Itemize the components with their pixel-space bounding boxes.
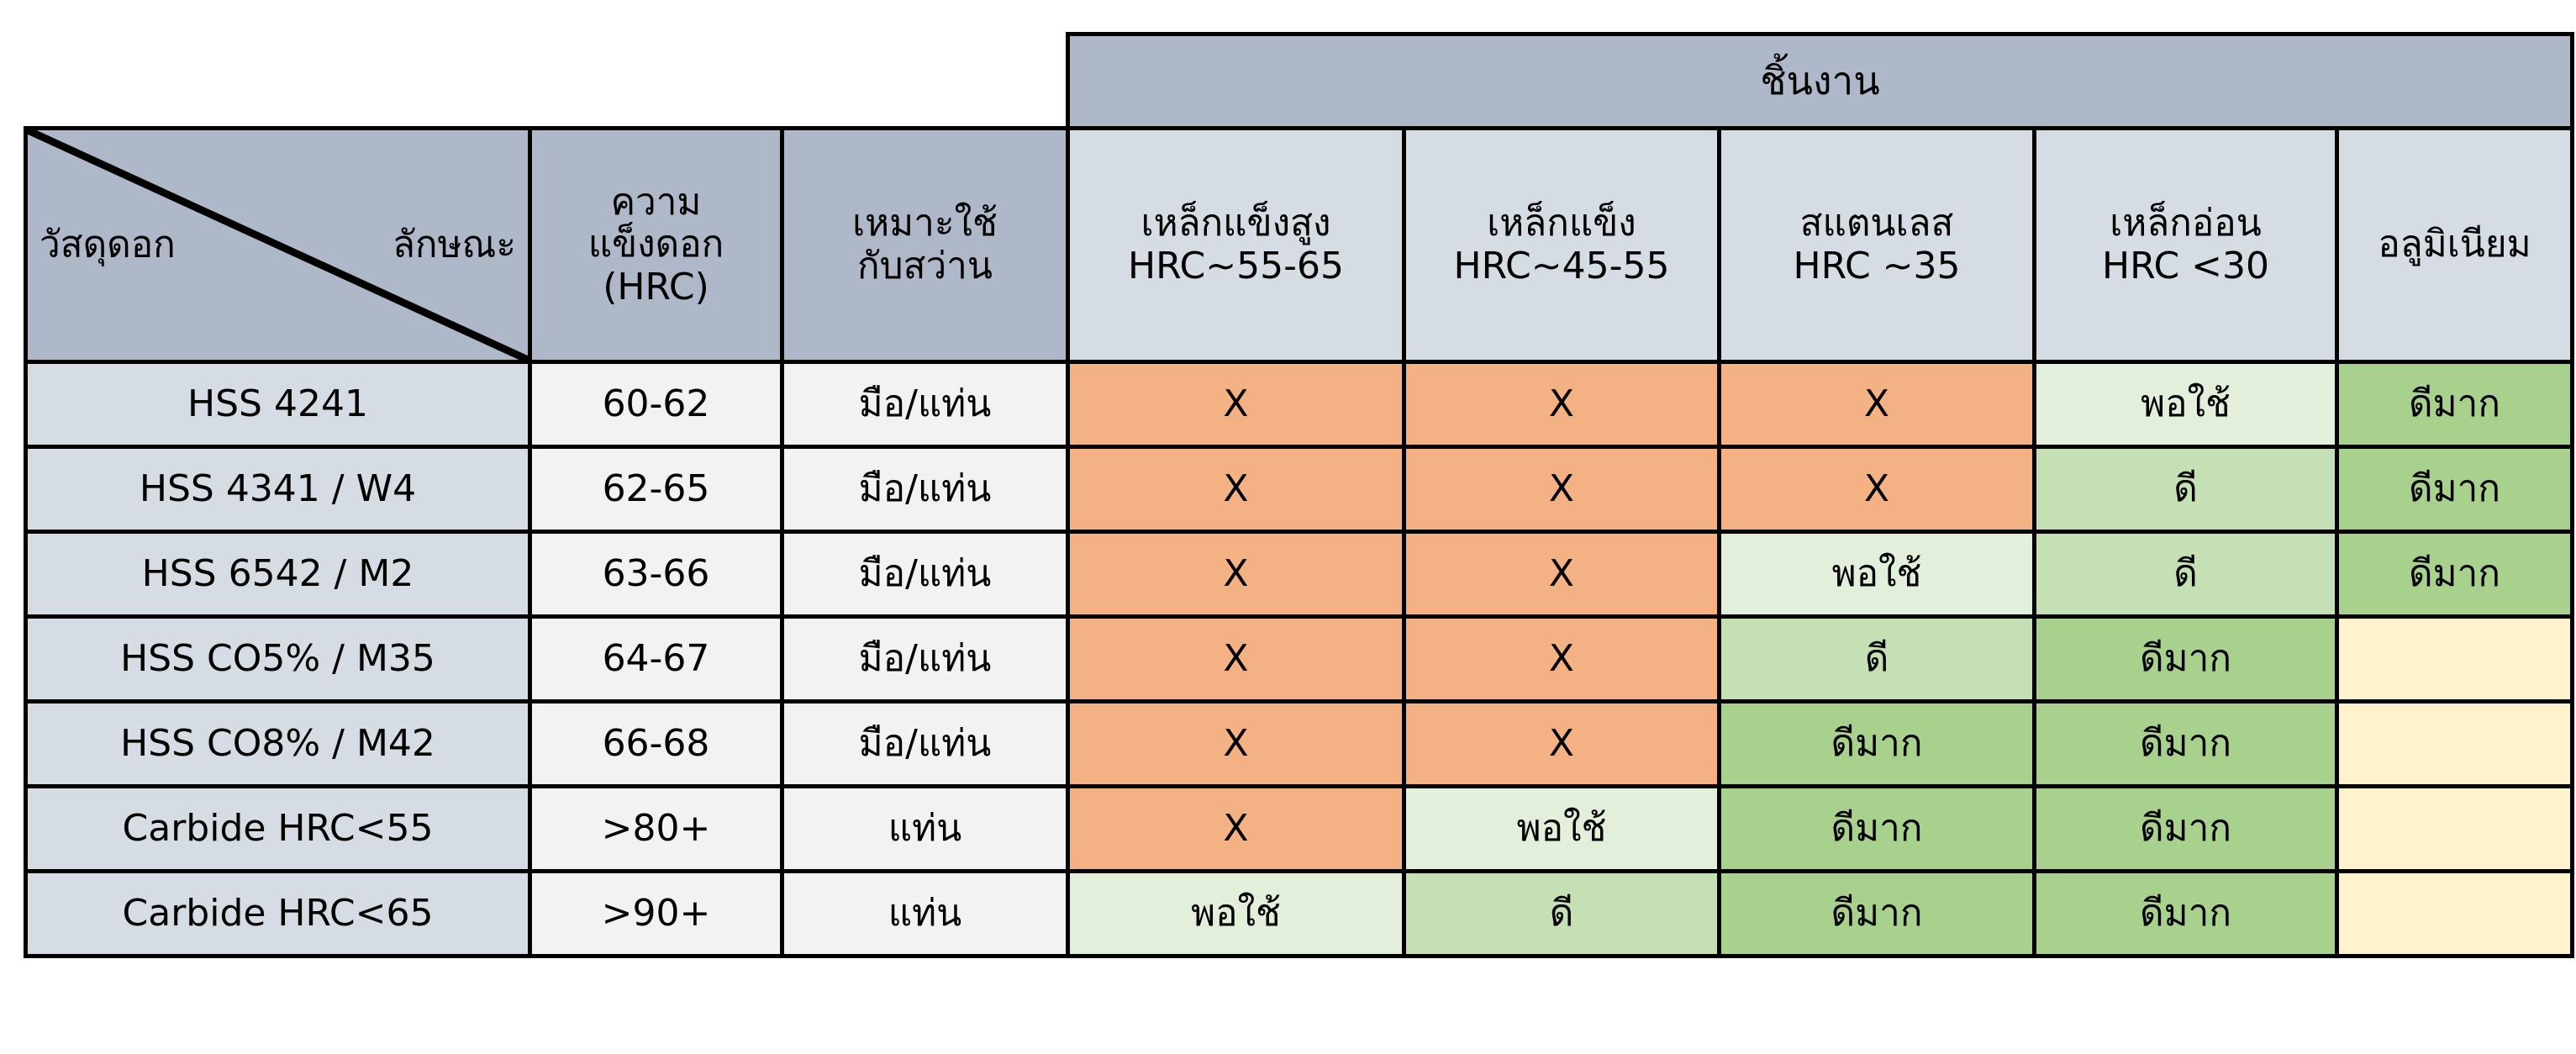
cell-hardness: >80+ [530,787,782,872]
table-row: HSS 6542 / M263-66มือ/แท่นXXพอใช้ดีดีมาก [26,532,2573,617]
cell-rating: X [1068,617,1404,702]
corner-column-axis-label: ลักษณะ [392,224,516,266]
header-workpiece-3-name: เหล็กอ่อน [2036,203,2335,245]
cell-material-name: HSS 4241 [26,362,530,447]
cell-rating: X [1068,532,1404,617]
cell-material-name: HSS CO5% / M35 [26,617,530,702]
cell-rating: ดี [1404,872,1720,957]
cell-material-name: Carbide HRC<65 [26,872,530,957]
cell-drill-fit: แท่น [782,787,1068,872]
header-workpiece-2-spec: HRC ~35 [1721,245,2032,288]
header-workpiece-3: เหล็กอ่อน HRC <30 [2035,129,2337,362]
header-workpiece-0-name: เหล็กแข็งสูง [1070,203,1402,245]
cell-rating: ดีมาก [1720,787,2035,872]
table-header-row: ลักษณะ วัสดุดอก ความ แข็งดอก (HRC) เหมาะ… [26,129,2573,362]
drill-material-comparison-sheet: ชิ้นงาน ลักษณะ วัสดุดอก ความ แข็งดอก (HR… [0,0,2576,1054]
cell-rating: X [1068,702,1404,787]
cell-material-name: HSS 4341 / W4 [26,447,530,532]
header-hardness-line3: (HRC) [532,266,780,309]
cell-rating: X [1720,362,2035,447]
table-row: HSS 4341 / W462-65มือ/แท่นXXXดีดีมาก [26,447,2573,532]
header-workpiece-0-spec: HRC~55-65 [1070,245,1402,288]
band-spacer-material [26,34,530,129]
cell-rating: พอใช้ [1404,787,1720,872]
cell-rating: พอใช้ [1720,532,2035,617]
table-row: HSS CO8% / M4266-68มือ/แท่นXXดีมากดีมาก [26,702,2573,787]
cell-hardness: >90+ [530,872,782,957]
cell-rating: X [1404,532,1720,617]
cell-material-name: Carbide HRC<55 [26,787,530,872]
corner-row-axis-label: วัสดุดอก [40,224,176,266]
header-workpiece-1-name: เหล็กแข็ง [1406,203,1717,245]
header-workpiece-1-spec: HRC~45-55 [1406,245,1717,288]
cell-rating: X [1404,617,1720,702]
header-drill-fit-line1: เหมาะใช้ [784,203,1066,245]
cell-rating: ดีมาก [2035,617,2337,702]
cell-hardness: 62-65 [530,447,782,532]
cell-drill-fit: มือ/แท่น [782,362,1068,447]
cell-rating: ดีมาก [2337,532,2573,617]
cell-rating: ดีมาก [2035,787,2337,872]
cell-rating [2337,872,2573,957]
cell-hardness: 60-62 [530,362,782,447]
header-hardness-line1: ความ [532,182,780,224]
header-drill-fit-line2: กับสว่าน [784,245,1066,288]
cell-drill-fit: มือ/แท่น [782,532,1068,617]
table-row: HSS CO5% / M3564-67มือ/แท่นXXดีดีมาก [26,617,2573,702]
cell-rating: X [1720,447,2035,532]
cell-rating: X [1404,702,1720,787]
cell-rating: ดี [1720,617,2035,702]
header-workpiece-2-name: สแตนเลส [1721,203,2032,245]
drill-material-matrix-table: ชิ้นงาน ลักษณะ วัสดุดอก ความ แข็งดอก (HR… [24,32,2574,958]
cell-rating: ดีมาก [1720,702,2035,787]
band-spacer-hardness [530,34,782,129]
cell-material-name: HSS 6542 / M2 [26,532,530,617]
cell-rating: ดีมาก [2035,702,2337,787]
cell-drill-fit: แท่น [782,872,1068,957]
cell-rating: X [1068,787,1404,872]
header-hardness: ความ แข็งดอก (HRC) [530,129,782,362]
cell-rating: พอใช้ [2035,362,2337,447]
table-row: Carbide HRC<65>90+แท่นพอใช้ดีดีมากดีมาก [26,872,2573,957]
cell-rating: พอใช้ [1068,872,1404,957]
table-row: Carbide HRC<55>80+แท่นXพอใช้ดีมากดีมาก [26,787,2573,872]
cell-rating: X [1068,447,1404,532]
workpiece-band-row: ชิ้นงาน [26,34,2573,129]
cell-rating [2337,617,2573,702]
cell-rating: X [1404,447,1720,532]
cell-rating: X [1068,362,1404,447]
cell-rating: ดีมาก [2035,872,2337,957]
cell-hardness: 64-67 [530,617,782,702]
header-workpiece-0: เหล็กแข็งสูง HRC~55-65 [1068,129,1404,362]
header-workpiece-3-spec: HRC <30 [2036,245,2335,288]
cell-drill-fit: มือ/แท่น [782,447,1068,532]
cell-hardness: 66-68 [530,702,782,787]
workpiece-band-title: ชิ้นงาน [1068,34,2573,129]
corner-axis-cell: ลักษณะ วัสดุดอก [26,129,530,362]
header-hardness-line2: แข็งดอก [532,224,780,266]
header-drill-fit: เหมาะใช้ กับสว่าน [782,129,1068,362]
cell-rating: X [1404,362,1720,447]
cell-rating: ดีมาก [2337,362,2573,447]
cell-material-name: HSS CO8% / M42 [26,702,530,787]
cell-rating [2337,787,2573,872]
table-body: HSS 424160-62มือ/แท่นXXXพอใช้ดีมากHSS 43… [26,362,2573,957]
cell-rating: ดี [2035,447,2337,532]
cell-hardness: 63-66 [530,532,782,617]
header-workpiece-4-name: อลูมิเนียม [2339,224,2570,266]
header-workpiece-4: อลูมิเนียม [2337,129,2573,362]
cell-rating: ดี [2035,532,2337,617]
header-workpiece-2: สแตนเลส HRC ~35 [1720,129,2035,362]
cell-drill-fit: มือ/แท่น [782,617,1068,702]
band-spacer-drill [782,34,1068,129]
cell-rating: ดีมาก [1720,872,2035,957]
header-workpiece-1: เหล็กแข็ง HRC~45-55 [1404,129,1720,362]
cell-rating [2337,702,2573,787]
table-row: HSS 424160-62มือ/แท่นXXXพอใช้ดีมาก [26,362,2573,447]
cell-drill-fit: มือ/แท่น [782,702,1068,787]
cell-rating: ดีมาก [2337,447,2573,532]
